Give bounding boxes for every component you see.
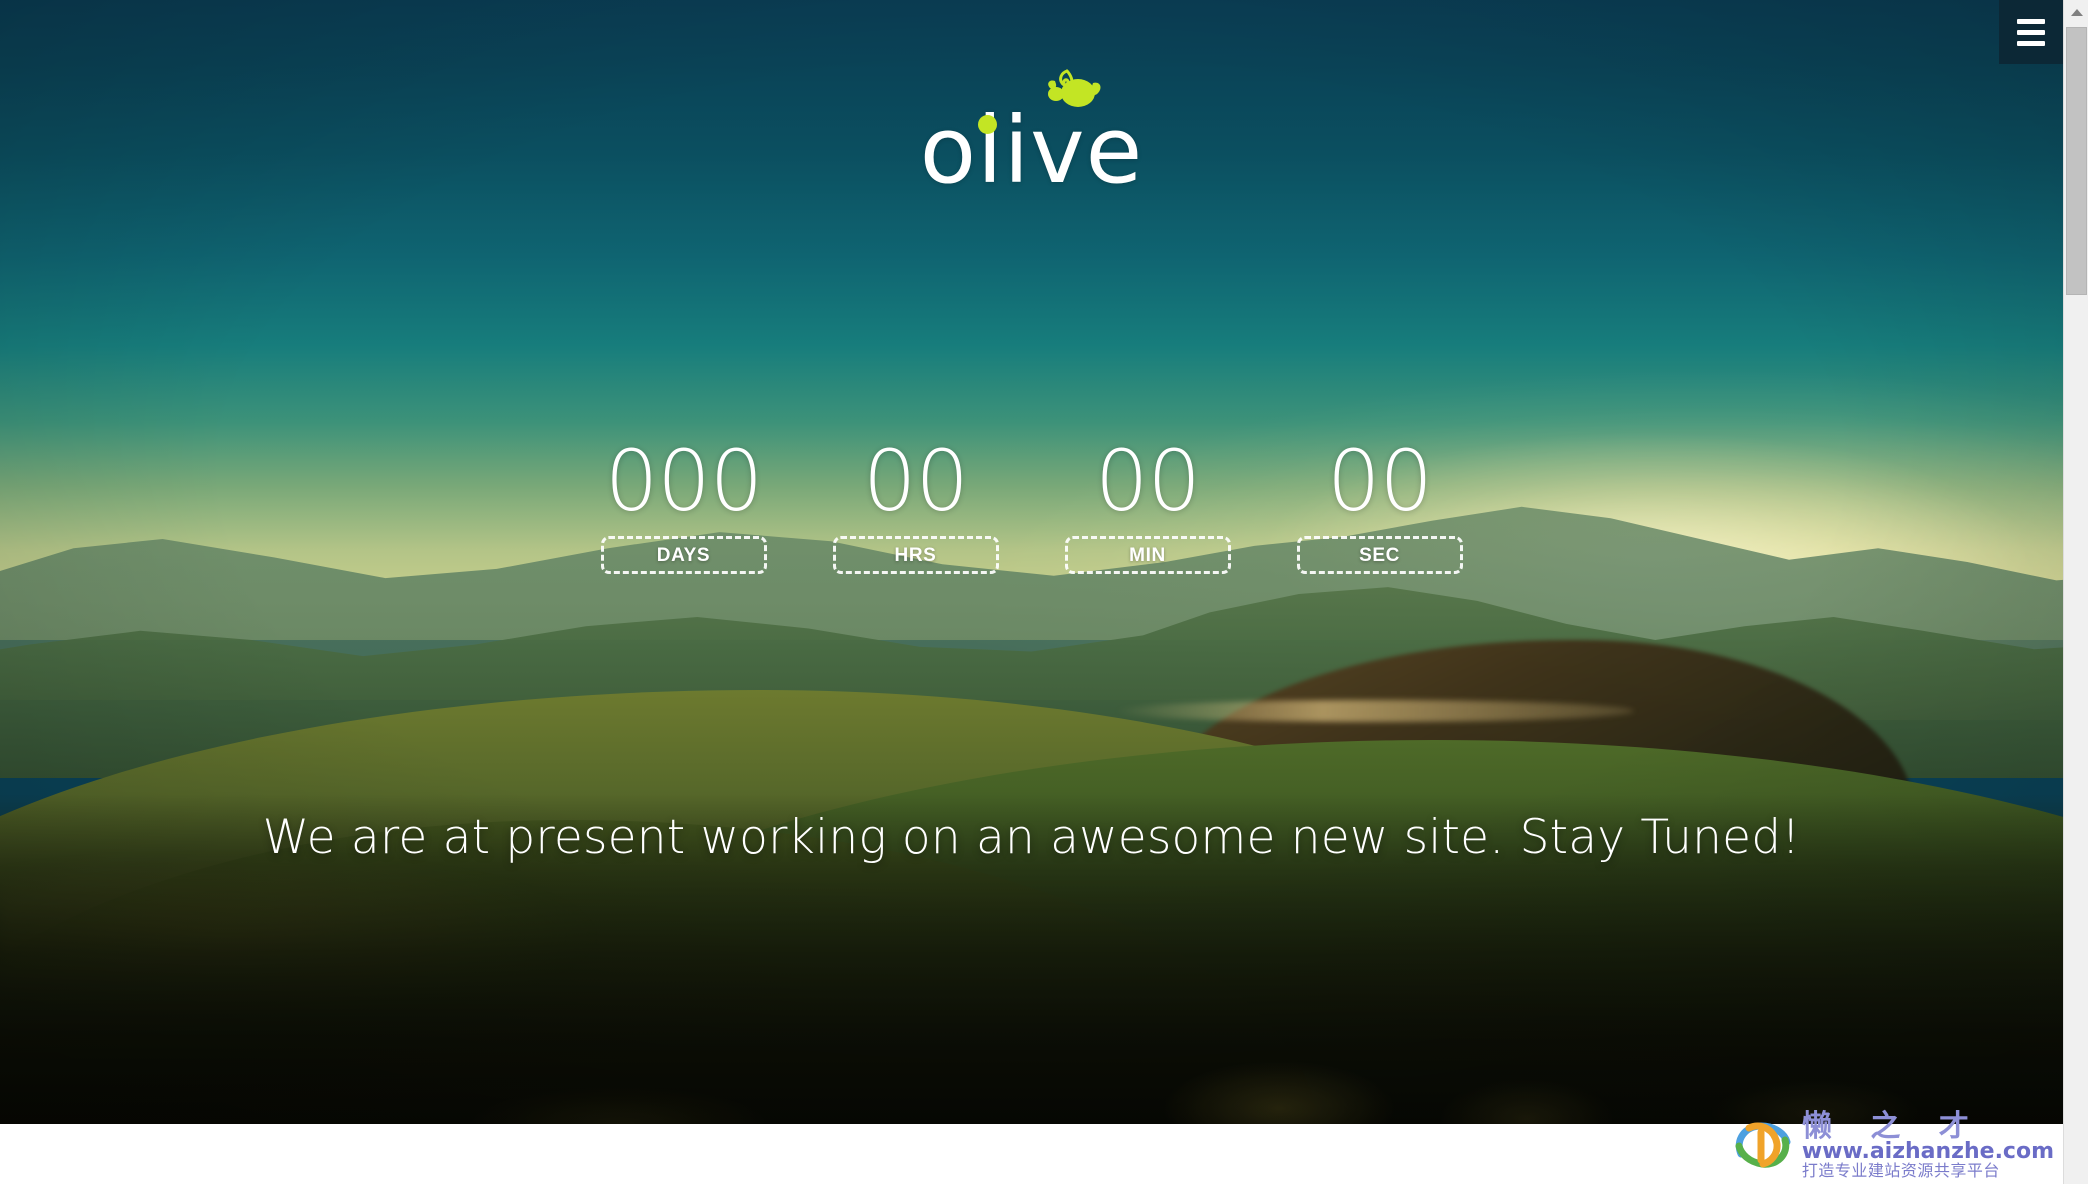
page-root: olive bbox=[0, 0, 2088, 1184]
countdown-unit-min: 00 MIN bbox=[1065, 438, 1231, 574]
watermark-subtitle: 打造专业建站资源共享平台 bbox=[1802, 1163, 2054, 1180]
countdown-unit-sec: 00 SEC bbox=[1297, 438, 1463, 574]
vertical-scrollbar[interactable] bbox=[2063, 0, 2088, 1184]
logo-wordmark: olive bbox=[920, 97, 1143, 204]
grass-tufts bbox=[0, 864, 2063, 1124]
scrollbar-thumb[interactable] bbox=[2066, 27, 2087, 295]
caret-up-icon bbox=[2071, 9, 2083, 16]
countdown-value-min: 00 bbox=[1065, 438, 1231, 524]
scrollbar-up-button[interactable] bbox=[2064, 0, 2088, 25]
countdown-label-sec: SEC bbox=[1297, 536, 1463, 574]
countdown-value-days: 000 bbox=[601, 438, 767, 524]
countdown-value-hrs: 00 bbox=[833, 438, 999, 524]
tagline-text: We are at present working on an awesome … bbox=[0, 808, 2063, 868]
hamburger-icon-bar-2 bbox=[2017, 30, 2045, 35]
brand-logo[interactable]: olive bbox=[0, 105, 2063, 197]
hamburger-menu-button[interactable] bbox=[1999, 0, 2063, 64]
hamburger-icon-bar-1 bbox=[2017, 19, 2045, 24]
knoll-lit-rim bbox=[1114, 700, 1634, 722]
countdown-value-sec: 00 bbox=[1297, 438, 1463, 524]
countdown-label-hrs: HRS bbox=[833, 536, 999, 574]
watermark-url: www.aizhanzhe.com bbox=[1802, 1140, 2054, 1163]
countdown-label-days: DAYS bbox=[601, 536, 767, 574]
countdown-unit-hrs: 00 HRS bbox=[833, 438, 999, 574]
logo-i-dot bbox=[978, 115, 997, 134]
olive-sprig-icon bbox=[1033, 63, 1103, 115]
countdown-timer: 000 DAYS 00 HRS 00 MIN 00 SEC bbox=[0, 438, 2063, 574]
hero-section: olive bbox=[0, 0, 2063, 1124]
hamburger-icon-bar-3 bbox=[2017, 41, 2045, 46]
countdown-unit-days: 000 DAYS bbox=[601, 438, 767, 574]
countdown-label-min: MIN bbox=[1065, 536, 1231, 574]
